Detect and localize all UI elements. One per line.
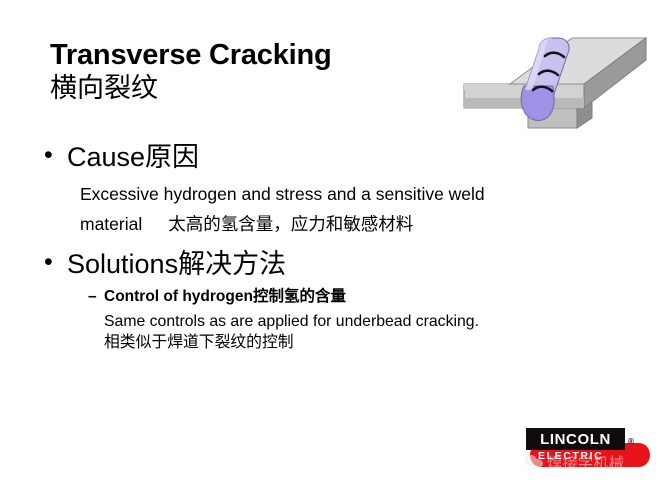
sub-bullet-body-en: Same controls as are applied for underbe… — [104, 313, 479, 330]
sub-bullet-body: Same controls as are applied for underbe… — [104, 312, 644, 354]
lincoln-electric-logo: ELECTRIC LINCOLN ® 焊接学机械 — [524, 427, 660, 481]
page-title-en: Transverse Cracking — [50, 40, 450, 71]
slide-content: • Cause原因 Excessive hydrogen and stress … — [44, 142, 644, 354]
bullet-cause: • Cause原因 — [44, 142, 644, 173]
bullet-solutions: • Solutions解决方法 — [44, 249, 644, 280]
cause-body-en-line1: Excessive hydrogen and stress and a sens… — [80, 184, 485, 204]
sub-bullet-control-of-hydrogen: – Control of hydrogen控制氢的含量 — [88, 288, 644, 307]
sub-bullet-heading: Control of hydrogen控制氢的含量 — [104, 288, 346, 307]
cause-body-zh: 太高的氢含量，应力和敏感材料 — [168, 214, 413, 234]
cause-body: Excessive hydrogen and stress and a sens… — [80, 179, 644, 239]
slide-title-block: Transverse Cracking 横向裂纹 — [50, 40, 450, 104]
logo-brand-box: LINCOLN — [526, 428, 625, 450]
watermark-text: 焊接学机械 — [547, 452, 625, 473]
registered-trademark-icon: ® — [628, 437, 634, 446]
logo-brand-text: LINCOLN — [540, 431, 611, 448]
weld-joint-diagram — [452, 24, 652, 132]
wechat-watermark: 焊接学机械 — [524, 449, 660, 475]
sub-bullet-dash-icon: – — [88, 288, 104, 307]
bullet-dot-icon: • — [44, 249, 67, 277]
bullet-solutions-heading: Solutions解决方法 — [67, 249, 286, 280]
sub-bullet-body-zh: 相类似于焊道下裂纹的控制 — [104, 333, 644, 354]
bullet-dot-icon: • — [44, 142, 67, 170]
wechat-icon — [524, 454, 546, 471]
weld-bead-front-end — [521, 86, 554, 120]
cause-body-en-line2: material — [80, 214, 142, 234]
page-title-zh: 横向裂纹 — [50, 73, 450, 104]
bullet-cause-heading: Cause原因 — [67, 142, 199, 173]
